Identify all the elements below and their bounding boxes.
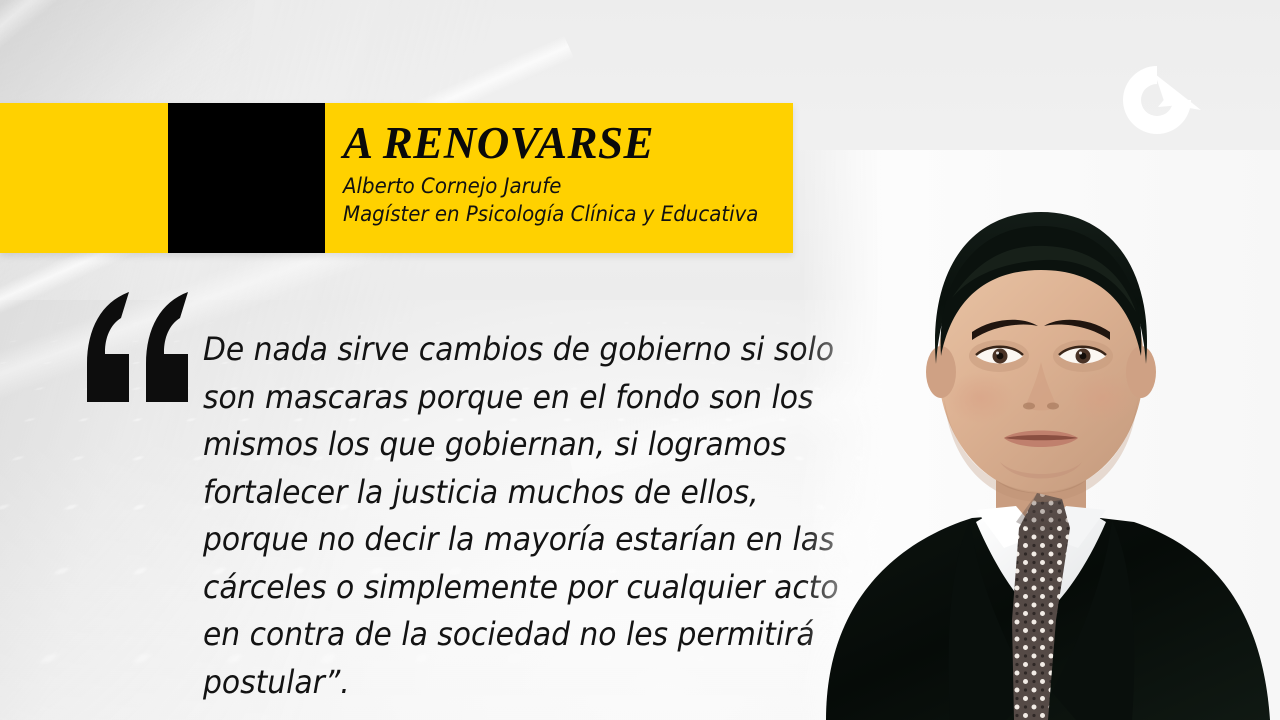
quote-line: cárceles o simplemente por cualquier act… (203, 564, 761, 612)
quote-line: De nada sirve cambios de gobierno si sol… (203, 326, 761, 374)
quote-line: porque no decir la mayoría estarían en l… (203, 516, 761, 564)
page-title: A RENOVARSE (343, 103, 793, 168)
quote-line: en contra de la sociedad no les permitir… (203, 611, 761, 659)
quote-line: postular”. (203, 659, 761, 707)
banner-black-block (168, 103, 325, 253)
quote-line: fortalecer la justicia muchos de ellos, (203, 469, 761, 517)
quote-text: De nada sirve cambios de gobierno si sol… (203, 326, 803, 706)
quote-line: mismos los que gobiernan, si logramos (203, 421, 761, 469)
quote-line: son mascaras porque en el fondo son los (203, 374, 761, 422)
header-banner: A RENOVARSE Alberto Cornejo Jarufe Magís… (0, 103, 793, 253)
quote-card: A RENOVARSE Alberto Cornejo Jarufe Magís… (0, 0, 1280, 720)
banner-text-group: A RENOVARSE Alberto Cornejo Jarufe Magís… (343, 103, 793, 253)
correo-arrow-logo-icon (1105, 48, 1209, 152)
portrait-photo (800, 150, 1280, 720)
author-credential: Magíster en Psicología Clínica y Educati… (343, 201, 757, 229)
open-quote-icon (74, 292, 204, 402)
author-name: Alberto Cornejo Jarufe (343, 168, 757, 201)
